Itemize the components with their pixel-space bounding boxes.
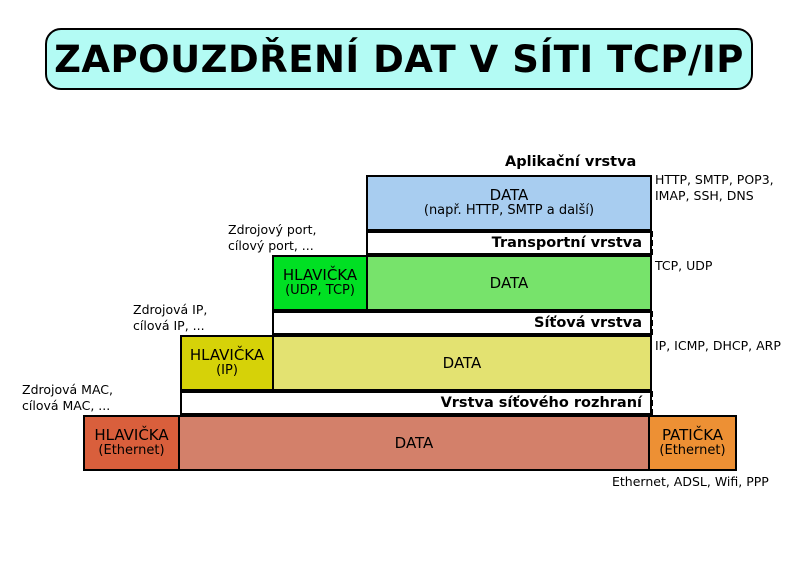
layer-caption-transport: Transportní vrstva <box>492 235 650 251</box>
packet-row-transport: HLAVIČKA (UDP, TCP) DATA <box>272 255 652 311</box>
segment-label-sub: (IP) <box>216 364 238 379</box>
segment-link-trailer: PATIČKA (Ethernet) <box>648 415 737 471</box>
encapsulation-diagram: Aplikační vrstva DATA (např. HTTP, SMTP … <box>0 0 800 566</box>
packet-row-application: DATA (např. HTTP, SMTP a další) <box>366 175 652 231</box>
header-fields-link: Zdrojová MAC, cílová MAC, ... <box>22 382 113 413</box>
segment-transport-data: DATA <box>366 255 652 311</box>
header-fields-link-line2: cílová MAC, ... <box>22 398 113 414</box>
header-fields-transport-line1: Zdrojový port, <box>228 222 317 238</box>
segment-label-main: HLAVIČKA <box>94 427 168 444</box>
header-fields-link-line1: Zdrojová MAC, <box>22 382 113 398</box>
segment-network-header: HLAVIČKA (IP) <box>180 335 274 391</box>
segment-label-main: HLAVIČKA <box>283 267 357 284</box>
protocols-application-line1: HTTP, SMTP, POP3, <box>655 172 774 188</box>
header-fields-network-line1: Zdrojová IP, <box>133 302 207 318</box>
segment-network-data: DATA <box>272 335 652 391</box>
layer-band-link: Vrstva síťového rozhraní <box>180 391 652 415</box>
segment-label-sub: (např. HTTP, SMTP a další) <box>424 204 594 219</box>
protocols-network-line1: IP, ICMP, DHCP, ARP <box>655 338 781 354</box>
layer-caption-link: Vrstva síťového rozhraní <box>441 395 650 411</box>
header-fields-transport: Zdrojový port, cílový port, ... <box>228 222 317 253</box>
layer-caption-application: Aplikační vrstva <box>505 154 636 170</box>
protocols-link: Ethernet, ADSL, Wifi, PPP <box>612 474 769 490</box>
protocols-transport: TCP, UDP <box>655 258 712 274</box>
segment-label-main: DATA <box>490 187 529 204</box>
header-fields-network-line2: cílová IP, ... <box>133 318 207 334</box>
segment-label-sub: (Ethernet) <box>659 444 725 459</box>
segment-label-main: DATA <box>443 355 482 372</box>
layer-caption-network: Síťová vrstva <box>534 315 650 331</box>
segment-link-header: HLAVIČKA (Ethernet) <box>83 415 180 471</box>
header-fields-network: Zdrojová IP, cílová IP, ... <box>133 302 207 333</box>
protocols-application: HTTP, SMTP, POP3, IMAP, SSH, DNS <box>655 172 774 203</box>
segment-transport-header: HLAVIČKA (UDP, TCP) <box>272 255 368 311</box>
segment-label-main: DATA <box>395 435 434 452</box>
protocols-transport-line1: TCP, UDP <box>655 258 712 274</box>
layer-band-transport: Transportní vrstva <box>366 231 652 255</box>
protocols-link-line1: Ethernet, ADSL, Wifi, PPP <box>612 474 769 490</box>
header-fields-transport-line2: cílový port, ... <box>228 238 317 254</box>
segment-application-data: DATA (např. HTTP, SMTP a další) <box>366 175 652 231</box>
protocols-application-line2: IMAP, SSH, DNS <box>655 188 774 204</box>
packet-row-link: HLAVIČKA (Ethernet) DATA PATIČKA (Ethern… <box>83 415 737 471</box>
segment-link-data: DATA <box>178 415 650 471</box>
protocols-network: IP, ICMP, DHCP, ARP <box>655 338 781 354</box>
segment-label-sub: (Ethernet) <box>98 444 164 459</box>
packet-row-network: HLAVIČKA (IP) DATA <box>180 335 652 391</box>
layer-band-network: Síťová vrstva <box>272 311 652 335</box>
segment-label-main: HLAVIČKA <box>190 347 264 364</box>
segment-label-main: PATIČKA <box>662 427 723 444</box>
segment-label-main: DATA <box>490 275 529 292</box>
segment-label-sub: (UDP, TCP) <box>285 284 355 299</box>
